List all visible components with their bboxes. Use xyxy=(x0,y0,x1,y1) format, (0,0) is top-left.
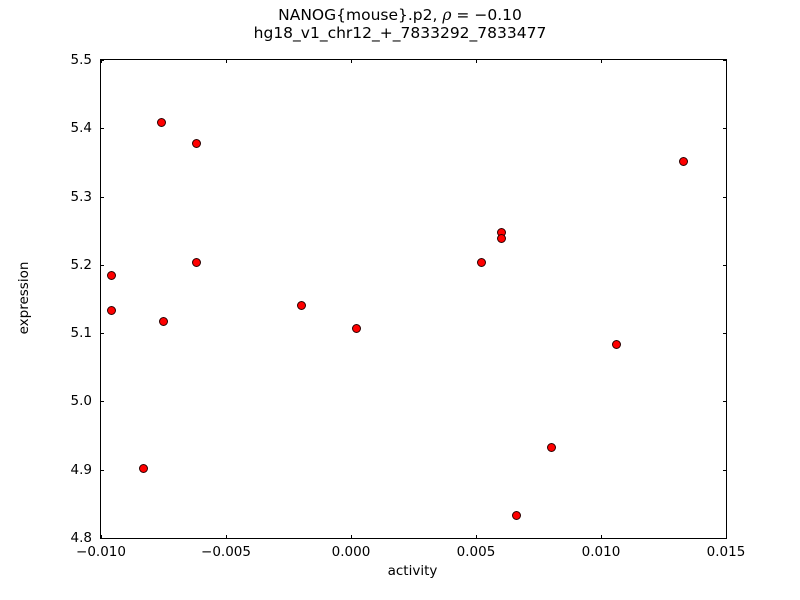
chart-title-line-1: NANOG{mouse}.p2, ρ = −0.10 xyxy=(0,6,800,24)
x-tick-label: 0.010 xyxy=(582,544,621,560)
x-tick-mark xyxy=(226,535,227,539)
y-tick-label: 5.5 xyxy=(71,52,92,68)
plot-canvas xyxy=(101,60,726,538)
data-point-marker xyxy=(192,258,201,267)
data-point-marker xyxy=(497,234,506,243)
y-tick-mark-right xyxy=(723,333,727,334)
data-point-marker xyxy=(679,157,688,166)
y-tick-label: 4.8 xyxy=(71,530,92,546)
y-tick-label: 5.4 xyxy=(71,120,92,136)
data-point-marker xyxy=(159,317,168,326)
y-tick-mark-right xyxy=(723,470,727,471)
x-tick-mark xyxy=(476,535,477,539)
y-tick-label: 5.3 xyxy=(71,189,92,205)
x-tick-label: −0.010 xyxy=(76,544,126,560)
x-tick-mark-top xyxy=(226,59,227,63)
x-axis-label: activity xyxy=(100,563,725,579)
scatter-plot-figure: NANOG{mouse}.p2, ρ = −0.10 hg18_v1_chr12… xyxy=(0,0,800,600)
data-point-marker xyxy=(192,139,201,148)
x-tick-label: 0.015 xyxy=(707,544,746,560)
data-point-marker xyxy=(107,271,116,280)
y-tick-mark-right xyxy=(723,128,727,129)
x-tick-label: 0.005 xyxy=(457,544,496,560)
chart-title-line-2: hg18_v1_chr12_+_7833292_7833477 xyxy=(0,24,800,42)
y-tick-mark xyxy=(100,197,104,198)
y-tick-mark-right xyxy=(723,265,727,266)
x-tick-label: 0.000 xyxy=(332,544,371,560)
x-tick-mark-top xyxy=(601,59,602,63)
y-tick-mark-right xyxy=(723,60,727,61)
chart-title: NANOG{mouse}.p2, ρ = −0.10 hg18_v1_chr12… xyxy=(0,6,800,43)
y-tick-mark xyxy=(100,128,104,129)
y-tick-label: 5.1 xyxy=(71,325,92,341)
y-tick-mark xyxy=(100,265,104,266)
y-axis-label: expression xyxy=(16,262,32,335)
data-point-marker xyxy=(107,306,116,315)
y-tick-mark-right xyxy=(723,538,727,539)
chart-title-prefix: NANOG{mouse}.p2, xyxy=(278,6,442,24)
data-point-marker xyxy=(477,258,486,267)
y-tick-mark xyxy=(100,60,104,61)
data-point-marker xyxy=(547,443,556,452)
x-tick-mark xyxy=(601,535,602,539)
y-tick-mark-right xyxy=(723,197,727,198)
chart-title-suffix: = −0.10 xyxy=(452,6,522,24)
data-point-marker xyxy=(612,340,621,349)
y-tick-label: 5.0 xyxy=(71,393,92,409)
y-tick-label: 5.2 xyxy=(71,257,92,273)
x-tick-mark-top xyxy=(351,59,352,63)
y-tick-mark xyxy=(100,470,104,471)
x-tick-mark xyxy=(351,535,352,539)
y-tick-mark-right xyxy=(723,401,727,402)
plot-area-frame: −0.010−0.0050.0000.0050.0100.0154.84.95.… xyxy=(100,59,727,539)
data-point-marker xyxy=(512,511,521,520)
data-point-marker xyxy=(297,301,306,310)
data-point-marker xyxy=(139,464,148,473)
y-tick-mark xyxy=(100,333,104,334)
rho-symbol: ρ xyxy=(442,6,451,24)
data-point-marker xyxy=(157,118,166,127)
y-tick-mark xyxy=(100,538,104,539)
y-tick-label: 4.9 xyxy=(71,462,92,478)
data-point-marker xyxy=(352,324,361,333)
y-tick-mark xyxy=(100,401,104,402)
x-tick-mark-top xyxy=(476,59,477,63)
x-tick-label: −0.005 xyxy=(201,544,251,560)
